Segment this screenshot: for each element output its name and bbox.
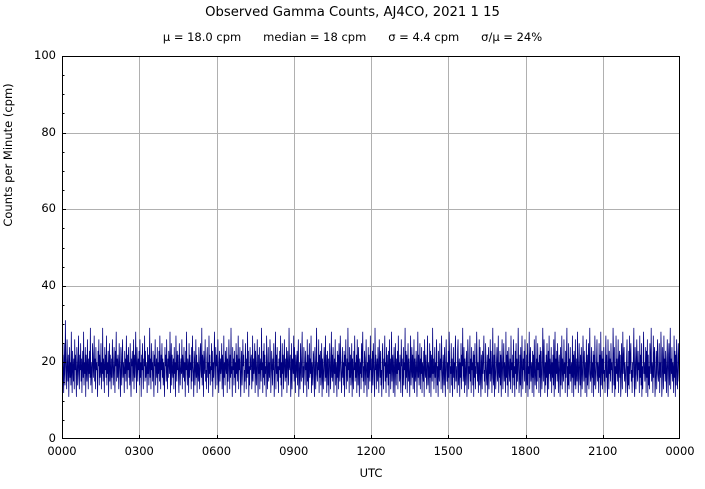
y-tick-label: 60 xyxy=(0,202,56,214)
y-tick-label: 40 xyxy=(0,279,56,291)
plot-canvas xyxy=(62,56,680,439)
y-tick-label: 80 xyxy=(0,126,56,138)
x-tick-label: 0000 xyxy=(650,445,705,458)
x-tick-label: 1200 xyxy=(341,445,401,458)
x-axis-label: UTC xyxy=(62,466,680,480)
x-tick-label: 0900 xyxy=(264,445,324,458)
x-tick-label: 0000 xyxy=(32,445,92,458)
chart-subtitle-stats: μ = 18.0 cpm median = 18 cpm σ = 4.4 cpm… xyxy=(0,30,705,44)
chart-title: Observed Gamma Counts, AJ4CO, 2021 1 15 xyxy=(0,5,705,21)
x-tick-label: 1800 xyxy=(496,445,556,458)
x-tick-label: 1500 xyxy=(418,445,478,458)
y-tick-label: 100 xyxy=(0,49,56,61)
x-tick-label: 0300 xyxy=(109,445,169,458)
x-tick-label: 2100 xyxy=(573,445,633,458)
plot-area xyxy=(62,56,680,439)
y-tick-label: 20 xyxy=(0,355,56,367)
chart-figure: Observed Gamma Counts, AJ4CO, 2021 1 15 … xyxy=(0,0,705,489)
x-tick-label: 0600 xyxy=(187,445,247,458)
y-axis-label: Counts per Minute (cpm) xyxy=(1,55,15,255)
y-tick-label: 0 xyxy=(0,432,56,444)
